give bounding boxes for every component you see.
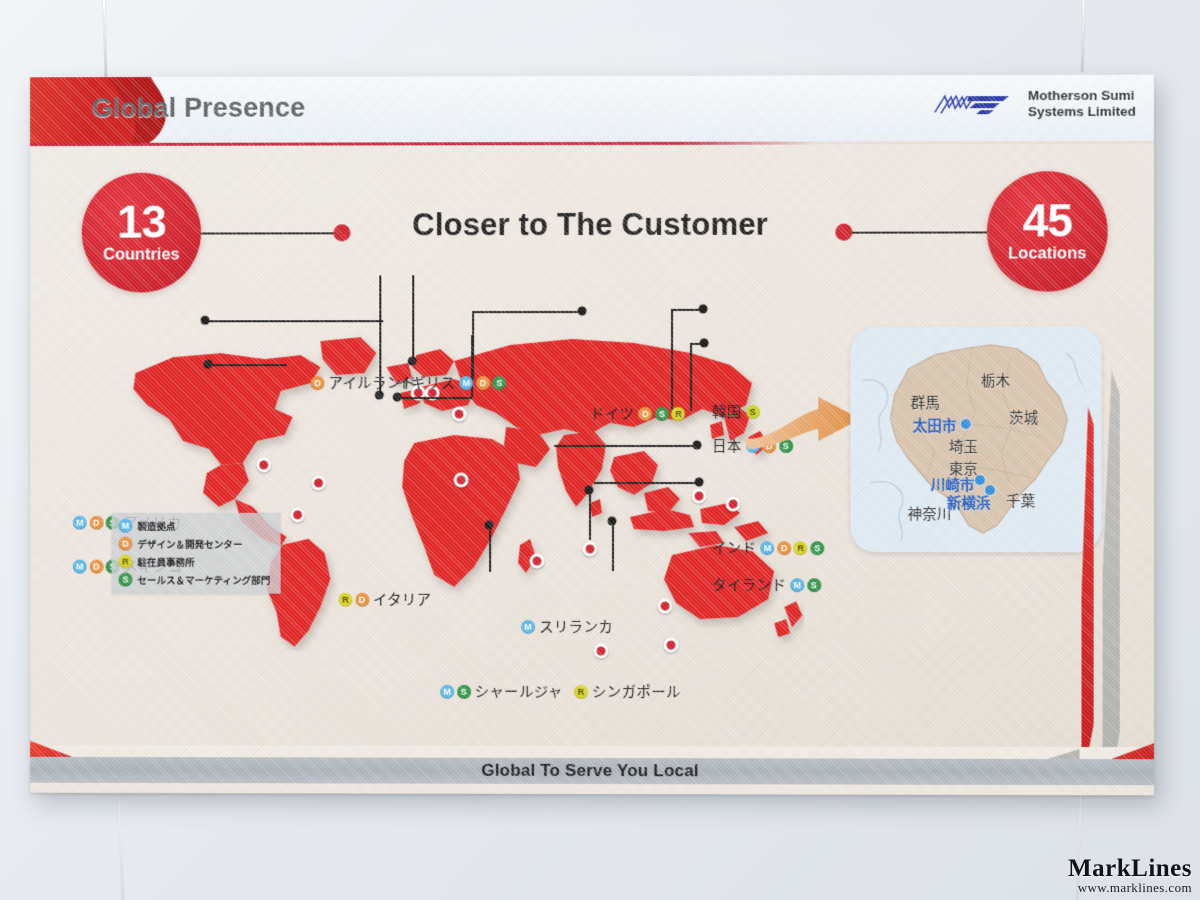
label-thailand: タイランド M S [712, 574, 821, 595]
legend-label-design: デザイン＆開発センター [137, 537, 242, 551]
label-singapore: R シンガポール [574, 681, 681, 702]
map-pin-italy [453, 472, 468, 487]
badge-s-icon: S [807, 578, 821, 592]
kpi-locations-label: Locations [1008, 245, 1086, 264]
leader-dot-mexico [204, 360, 213, 369]
leader-uk [412, 275, 414, 361]
leader-dot-uk [408, 357, 417, 366]
map-legend: M 製造拠点 D デザイン＆開発センター R 駐在員事務所 S セールス＆マーケ… [112, 513, 281, 594]
legend-item-design: D デザイン＆開発センター [119, 537, 274, 551]
badge-r-icon: R [338, 592, 352, 606]
leader-india [554, 445, 698, 447]
badge-r-icon: R [574, 684, 588, 698]
leader-dot-thailand [695, 478, 704, 487]
badge-s-icon: S [810, 541, 824, 555]
leader-sharjah [489, 525, 491, 572]
leader-mexico-h [207, 364, 287, 366]
leader-usa [204, 320, 383, 322]
badges-india: M D R S [761, 541, 825, 555]
label-srilanka-text: スリランカ [539, 616, 613, 637]
panel-edge-accent-grey [1103, 370, 1120, 791]
badge-m-icon: M [521, 619, 535, 633]
kpi-countries-label: Countries [103, 246, 180, 265]
panel-header: Global Presence Motherson Sumi Systems L… [30, 75, 1154, 145]
badge-s-icon: S [655, 406, 669, 420]
badge-r-icon: R [794, 541, 808, 555]
inset-pref-ibaraki: 茨城 [1009, 407, 1038, 428]
inset-city-shinyokohama: 新横浜 [947, 492, 991, 513]
badge-d-icon: D [89, 559, 103, 573]
japan-inset-map: 栃木 群馬 茨城 埼玉 東京 千葉 神奈川 太田市 川崎市 新横浜 [850, 327, 1101, 553]
map-pin-mexico [291, 507, 306, 522]
leader-dot-japan [700, 338, 709, 347]
badges-srilanka: M [521, 619, 535, 633]
watermark-name: MarkLines [1068, 855, 1192, 883]
badge-m-icon: M [761, 541, 775, 555]
legend-item-rep-office: R 駐在員事務所 [119, 555, 274, 569]
leader-dot-india [693, 441, 702, 450]
watermark: MarkLines www.marklines.com [1068, 855, 1192, 896]
brand-name: Motherson Sumi Systems Limited [1028, 88, 1136, 121]
label-japan-text: 日本 [712, 435, 742, 456]
legend-label-sales: セールス＆マーケティング部門 [137, 573, 270, 587]
legend-label-rep-office: 駐在員事務所 [137, 555, 194, 569]
label-india-text: インド [712, 537, 756, 558]
badge-d-icon: D [355, 592, 369, 606]
badge-m-icon: M [73, 559, 87, 573]
inset-city-dot-shinyokohama [985, 485, 995, 495]
badges-singapore: R [574, 684, 588, 698]
legend-item-manufacturing: M 製造拠点 [119, 519, 274, 533]
watermark-url: www.marklines.com [1068, 880, 1192, 896]
leader-dot-singapore [607, 517, 616, 526]
badges-uk: M D S [459, 376, 506, 390]
label-germany-text: ドイツ [590, 403, 634, 424]
inset-city-ota: 太田市 [913, 415, 957, 436]
badge-r-icon: R [119, 555, 133, 569]
badge-d-icon: D [119, 537, 133, 551]
label-sharjah-text: シャールジャ [475, 681, 563, 702]
map-pin-japan [725, 496, 740, 511]
badge-d-icon: D [311, 376, 325, 390]
label-singapore-text: シンガポール [592, 681, 681, 702]
leader-dot-germany [578, 307, 587, 316]
map-pin-srilanka [594, 644, 609, 659]
inset-pref-kanagawa: 神奈川 [908, 503, 952, 524]
leader-dot-sharjah [485, 520, 494, 529]
map-pin-thailand [657, 599, 672, 614]
badges-thailand: M S [790, 578, 821, 592]
footer-tagline: Global To Serve You Local [481, 761, 699, 781]
leader-dot-italy [393, 393, 402, 402]
label-uk: イギリス M D S [396, 372, 506, 393]
inset-pref-saitama: 埼玉 [949, 436, 978, 457]
panel-footer: Global To Serve You Local [30, 745, 1154, 795]
legend-item-sales: S セールス＆マーケティング部門 [119, 573, 274, 587]
label-india: インド M D R S [712, 537, 824, 558]
leader-korea-v [671, 309, 673, 411]
inset-pref-tochigi: 栃木 [981, 370, 1010, 391]
brand-line-1: Motherson Sumi [1028, 88, 1136, 105]
inset-pref-gunma: 群馬 [911, 392, 940, 413]
badge-d-icon: D [638, 406, 652, 420]
inset-city-dot-ota [961, 419, 971, 429]
legend-label-manufacturing: 製造拠点 [137, 519, 175, 533]
badge-m-icon: M [440, 684, 454, 698]
leader-italy-h [396, 397, 472, 399]
inset-pref-chiba: 千葉 [1006, 490, 1035, 511]
label-thailand-text: タイランド [712, 574, 786, 595]
label-uk-text: イギリス [396, 372, 455, 393]
badge-s-icon: S [492, 376, 506, 390]
leader-germany-h [472, 311, 582, 313]
label-italy: R D イタリア [338, 589, 431, 610]
leader-dot-srilanka [585, 485, 594, 494]
leader-japan-v [690, 343, 692, 411]
badge-m-icon: M [73, 515, 87, 529]
badge-s-icon: S [119, 573, 133, 587]
label-sharjah: M S シャールジャ [440, 681, 562, 702]
mssl-logo [931, 90, 1017, 120]
badge-d-icon: D [777, 541, 791, 555]
leader-singapore [612, 521, 614, 571]
badge-r-icon: R [671, 406, 685, 420]
map-pin-germany [451, 407, 466, 422]
badge-m-icon: M [790, 578, 804, 592]
badges-sharjah: M S [440, 684, 470, 698]
map-pin-usa-east [257, 458, 272, 473]
badges-germany: D S R [638, 406, 685, 420]
headline: Closer to The Customer [30, 206, 1154, 244]
leader-dot-korea [699, 304, 708, 313]
badges-italy: R D [338, 592, 368, 606]
leader-dot-usa [201, 316, 210, 325]
label-italy-text: イタリア [373, 589, 431, 610]
leader-srilanka [589, 490, 591, 540]
leader-thailand [594, 482, 700, 484]
inset-city-dot-kawasaki [975, 475, 985, 485]
presentation-panel: Global Presence Motherson Sumi Systems L… [30, 75, 1154, 796]
map-pin-sharjah [530, 554, 545, 569]
map-pin-singapore [664, 637, 679, 652]
label-germany: ドイツ D S R [590, 403, 685, 424]
footer-bar: Global To Serve You Local [30, 757, 1154, 785]
label-korea-text: 韓国 [712, 401, 742, 422]
brand-line-2: Systems Limited [1028, 104, 1136, 121]
zoom-arrow-icon [744, 395, 864, 451]
map-pin-korea [691, 488, 706, 503]
brand-lockup: Motherson Sumi Systems Limited [931, 88, 1135, 121]
map-pin-india [583, 541, 598, 556]
badge-m-icon: M [119, 519, 133, 533]
badge-m-icon: M [459, 376, 473, 390]
label-srilanka: M スリランカ [521, 616, 613, 637]
page-title: Global Presence [92, 93, 305, 124]
badge-d-icon: D [476, 376, 490, 390]
map-pin-usa-west [311, 475, 326, 490]
badge-d-icon: D [89, 515, 103, 529]
badge-s-icon: S [457, 684, 471, 698]
badges-ireland: D [311, 376, 325, 390]
panel-stage: 13 Countries 45 Locations Closer to The … [30, 144, 1154, 747]
